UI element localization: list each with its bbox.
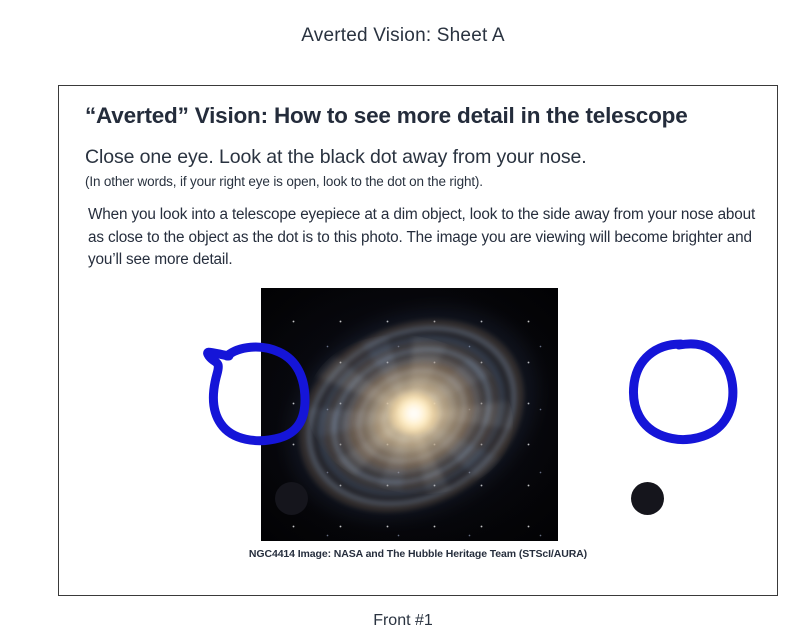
worksheet-card: “Averted” Vision: How to see more detail… [58, 85, 778, 596]
page-title: Averted Vision: Sheet A [0, 25, 806, 47]
blue-hand-drawn-circle-right-icon [621, 332, 747, 448]
black-dot-right [631, 482, 664, 515]
photo-caption: NGC4414 Image: NASA and The Hubble Herit… [59, 548, 777, 560]
black-dot-left [275, 482, 308, 515]
page-footer: Front #1 [0, 612, 806, 630]
card-heading: “Averted” Vision: How to see more detail… [85, 103, 688, 129]
card-subnote: (In other words, if your right eye is op… [85, 174, 483, 189]
galaxy-nucleus [389, 392, 439, 435]
card-subheading: Close one eye. Look at the black dot awa… [85, 146, 587, 169]
card-body-text: When you look into a telescope eyepiece … [88, 204, 756, 272]
